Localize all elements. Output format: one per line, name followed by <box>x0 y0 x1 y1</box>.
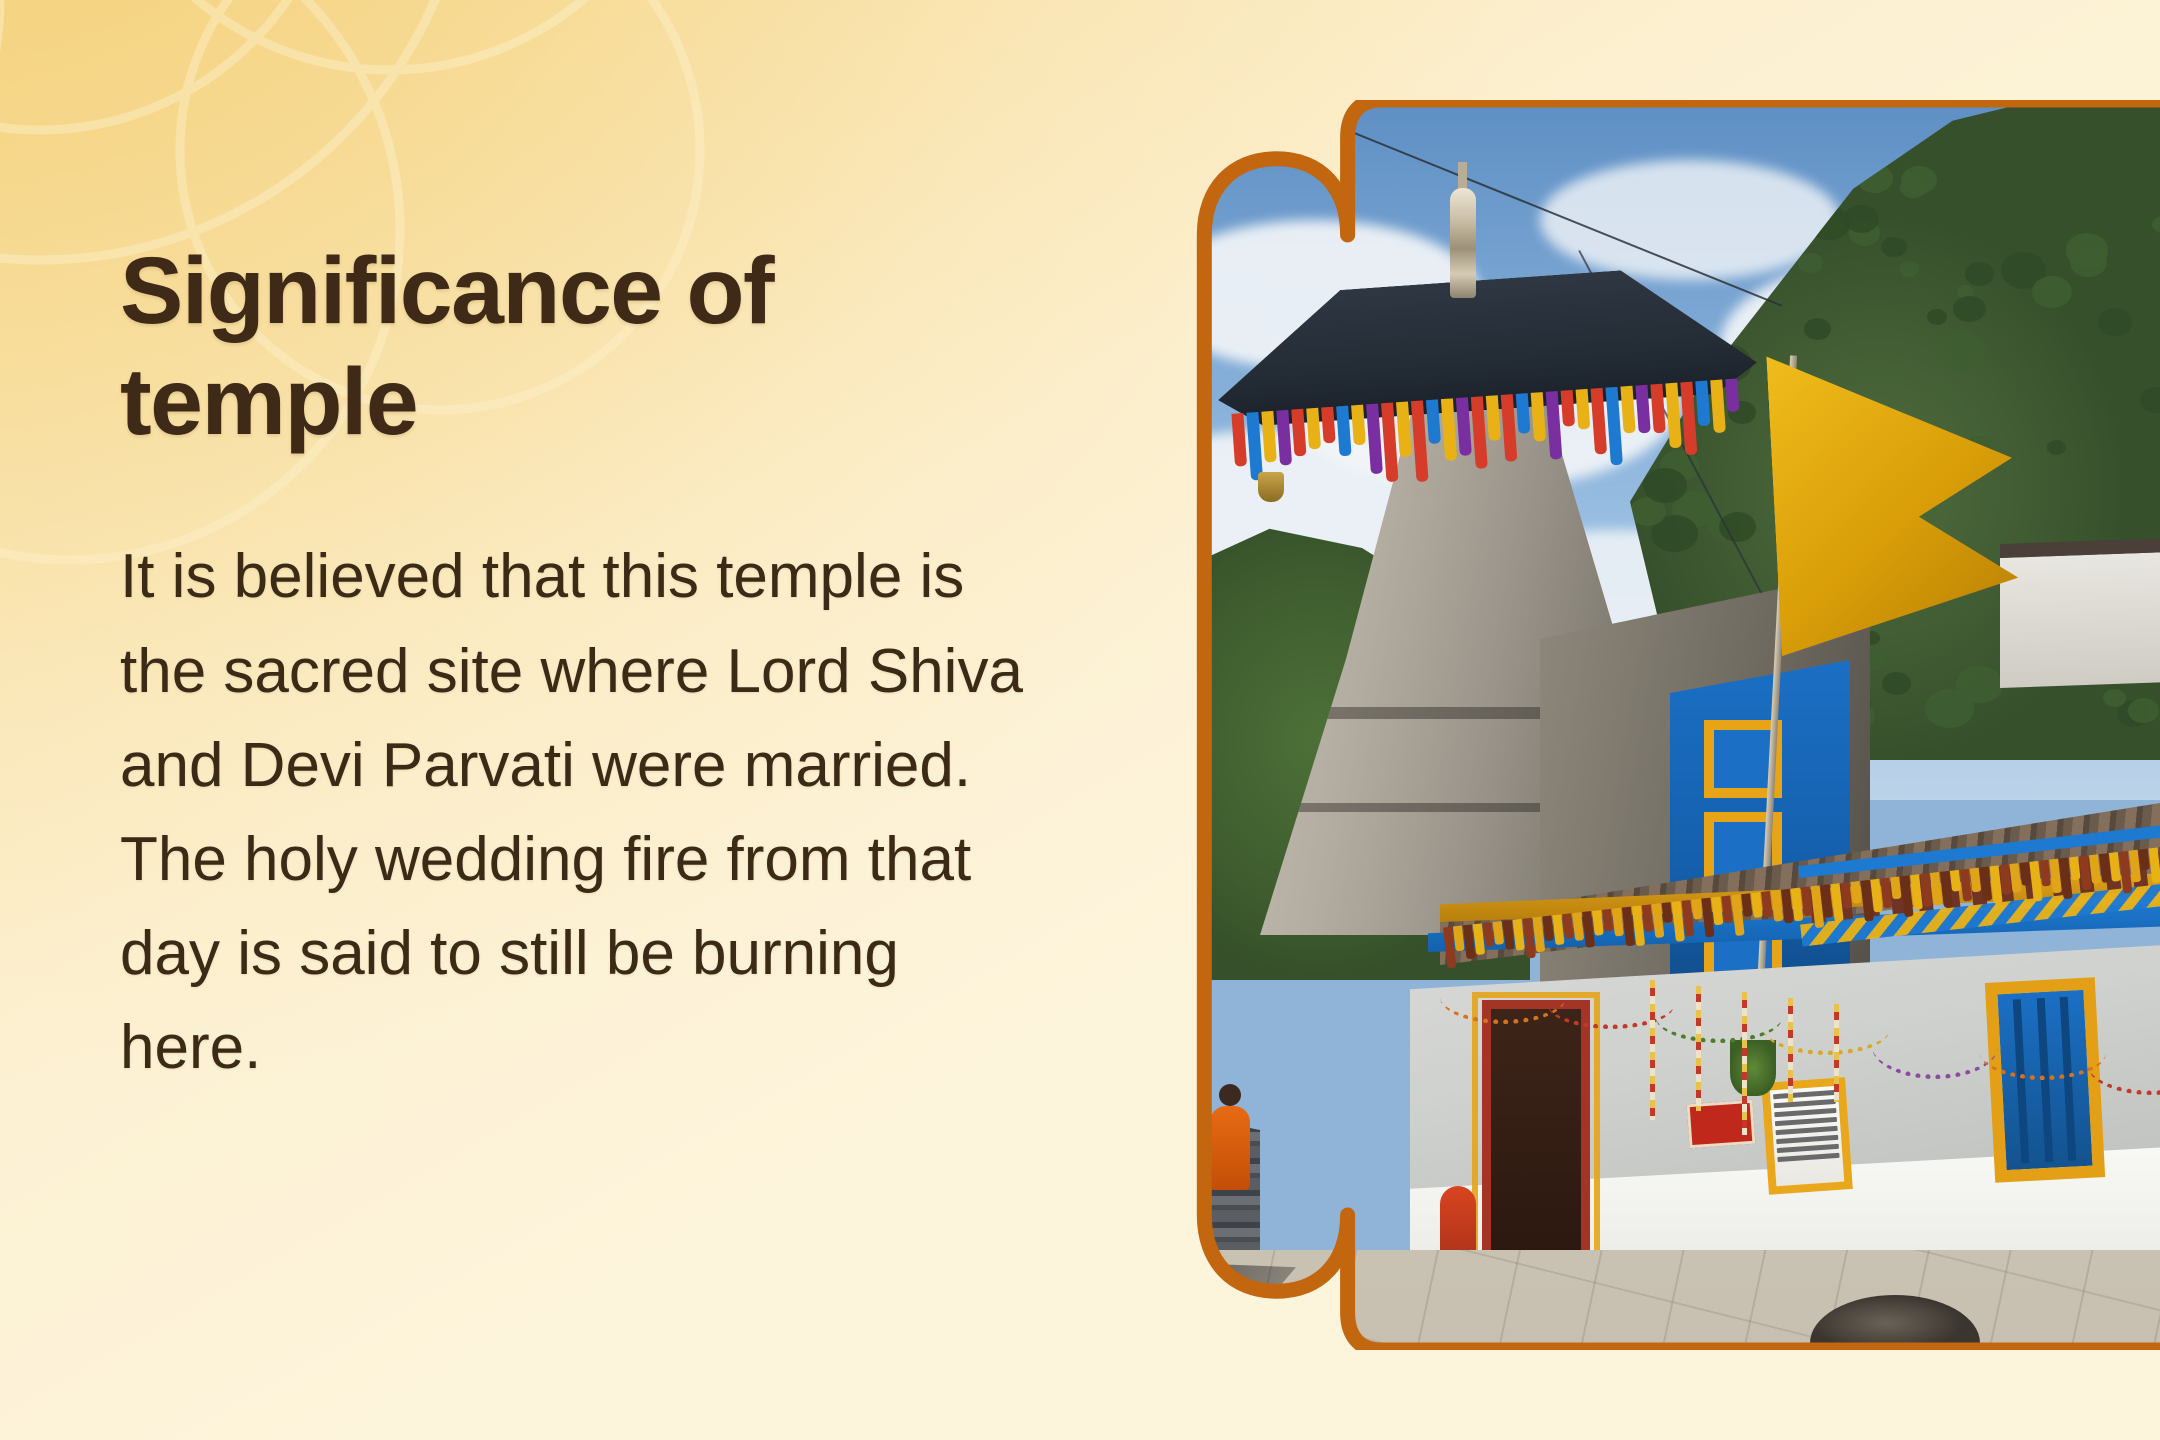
roof-hanging <box>1306 408 1321 449</box>
tree <box>2066 233 2109 267</box>
hanging-string <box>1650 980 1655 1120</box>
framed-poster <box>1761 1077 1853 1195</box>
tree <box>1899 261 1919 277</box>
village-building <box>2000 536 2160 688</box>
roof-hanging <box>1561 390 1575 426</box>
roof-hanging <box>1665 383 1681 448</box>
text-column: Significance of temple It is believed th… <box>120 236 1050 1096</box>
blue-window <box>1985 977 2105 1182</box>
tree <box>1804 318 1831 340</box>
page-title: Significance of temple <box>120 236 820 458</box>
roof-hanging <box>1635 385 1650 433</box>
roof-hanging <box>1650 384 1665 434</box>
roof-hanging <box>1246 412 1263 481</box>
temple-photo-card <box>1110 100 2160 1350</box>
tree <box>1936 331 1985 370</box>
roof-hanging <box>1710 380 1726 434</box>
tree <box>2047 440 2066 455</box>
roof-hanging <box>1366 404 1383 474</box>
roof-hanging <box>1456 397 1472 455</box>
roof-hanging <box>1336 406 1351 457</box>
roof-hanging <box>1291 409 1306 457</box>
roof-hanging <box>1695 381 1710 426</box>
tree <box>2140 387 2160 413</box>
roof-hanging <box>1531 392 1546 442</box>
roof-hanging <box>1576 389 1591 429</box>
roof-hanging <box>1471 396 1488 469</box>
hanging-string <box>1696 986 1701 1111</box>
slide-canvas: Significance of temple It is believed th… <box>0 0 2160 1440</box>
roof-hanging <box>1351 405 1366 445</box>
roof-hanging <box>1441 398 1457 461</box>
tree <box>2032 276 2072 308</box>
roof-hanging <box>1620 386 1635 433</box>
metal-finial <box>1450 188 1476 298</box>
tree <box>2103 689 2126 707</box>
roof-hanging <box>1605 387 1622 466</box>
roof-hanging <box>1546 391 1563 459</box>
tree <box>1965 262 1995 286</box>
temple-photo <box>1110 100 2160 1350</box>
hanging-string <box>1788 998 1793 1102</box>
roof-hanging <box>1231 413 1247 466</box>
roof-hanging <box>1486 395 1501 441</box>
roof-hanging <box>1396 401 1412 457</box>
tree <box>1881 237 1907 258</box>
body-paragraph: It is believed that this temple is the s… <box>120 530 1030 1095</box>
tree <box>2098 308 2133 336</box>
roof-hanging <box>1501 394 1518 461</box>
temple-doorway <box>1482 1000 1590 1260</box>
tree <box>1798 253 1823 273</box>
hanging-string <box>1742 992 1747 1135</box>
roof-hanging <box>1321 407 1336 444</box>
tree <box>1925 689 1974 728</box>
tree <box>1927 309 1947 325</box>
hanging-plant <box>1730 1040 1776 1096</box>
tree <box>2152 216 2160 233</box>
roof-hanging <box>1516 393 1531 433</box>
roof-hanging <box>1276 410 1292 466</box>
roof-hanging <box>1725 378 1739 412</box>
roof-hanging <box>1591 388 1608 455</box>
tree <box>1882 672 1911 696</box>
hanging-string <box>1834 1004 1839 1102</box>
devotee-figure <box>1210 1106 1250 1190</box>
tree <box>2128 698 2159 723</box>
roof-hanging <box>1680 382 1697 456</box>
tree <box>1953 296 1986 322</box>
temple-bell <box>1258 472 1284 502</box>
roof-hanging <box>1426 399 1441 444</box>
tree <box>1900 177 1927 198</box>
temple-scene <box>1110 100 2160 1350</box>
flagstone-courtyard <box>1110 1250 2160 1350</box>
roof-hanging <box>1261 411 1277 463</box>
